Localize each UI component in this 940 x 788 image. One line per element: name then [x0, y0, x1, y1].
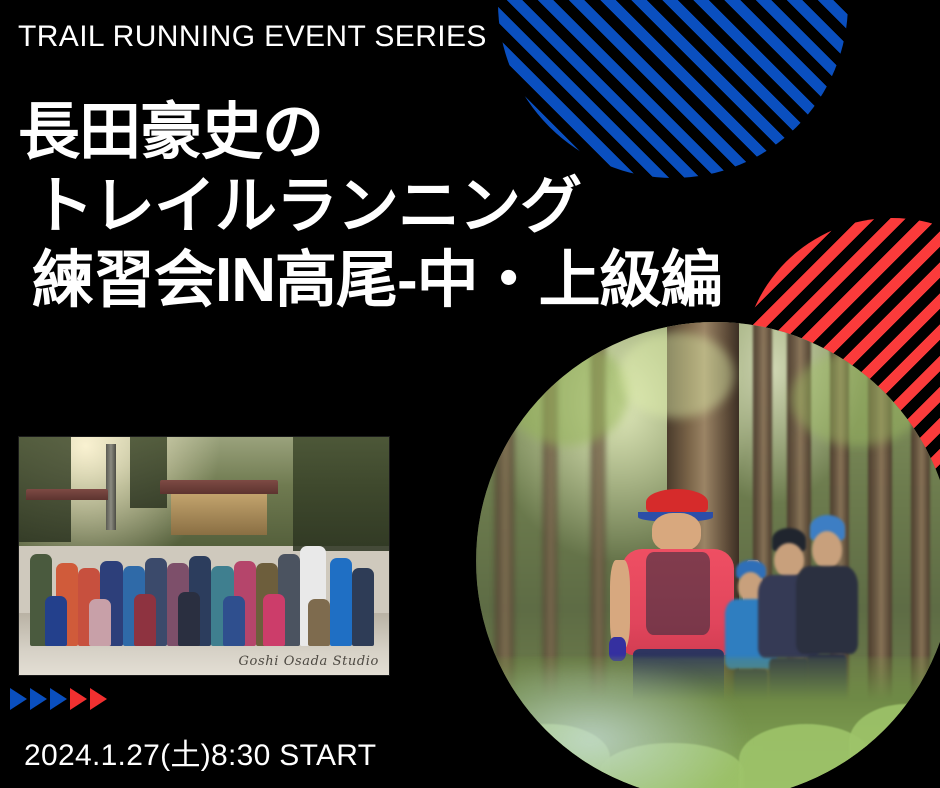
page-title: 長田豪史の トレイルランニング 練習会IN高尾-中・上級編	[18, 96, 898, 318]
runner-face-shape	[652, 513, 702, 552]
group-photo-crowd	[19, 527, 389, 646]
runner-head-shape	[812, 531, 842, 569]
hut-roof-shape	[160, 480, 278, 494]
tree-shape	[130, 437, 167, 508]
person-shape	[178, 592, 200, 647]
person-shape	[45, 596, 67, 646]
person-shape	[263, 594, 285, 646]
post-shape	[106, 444, 116, 530]
person-shape	[223, 596, 245, 646]
play-arrow-icon	[30, 688, 47, 710]
runner-torso-shape	[796, 566, 858, 654]
person-shape	[134, 594, 156, 646]
poster-canvas: TRAIL RUNNING EVENT SERIES 長田豪史の トレイルランニ…	[0, 0, 940, 788]
arrow-decoration-row	[10, 688, 107, 710]
grass-shape	[849, 704, 940, 780]
headline-line-2: トレイルランニング	[18, 170, 898, 244]
group-photo: Goshi Osada Studio	[18, 436, 390, 676]
play-arrow-icon	[50, 688, 67, 710]
foliage-shape	[791, 351, 925, 447]
runner-vest-shape	[646, 552, 710, 635]
play-arrow-icon	[10, 688, 27, 710]
foliage-shape	[619, 332, 734, 418]
play-arrow-icon	[90, 688, 107, 710]
runner-photo	[476, 322, 940, 788]
headline-line-1: 長田豪史の	[18, 96, 898, 170]
person-shape	[352, 568, 374, 647]
lens-haze-overlay	[476, 666, 753, 788]
runner-arm-shape	[610, 560, 630, 649]
person-shape	[89, 599, 111, 647]
event-series-kicker: TRAIL RUNNING EVENT SERIES	[18, 20, 487, 54]
shelter-roof-shape	[26, 489, 107, 500]
play-arrow-icon	[70, 688, 87, 710]
person-shape	[330, 558, 352, 646]
photo-watermark: Goshi Osada Studio	[239, 654, 379, 669]
person-shape	[308, 599, 330, 647]
foliage-shape	[505, 341, 629, 446]
event-date-time: 2024.1.27(土)8:30 START	[24, 730, 376, 774]
headline-line-3: 練習会IN高尾-中・上級編	[18, 244, 898, 318]
